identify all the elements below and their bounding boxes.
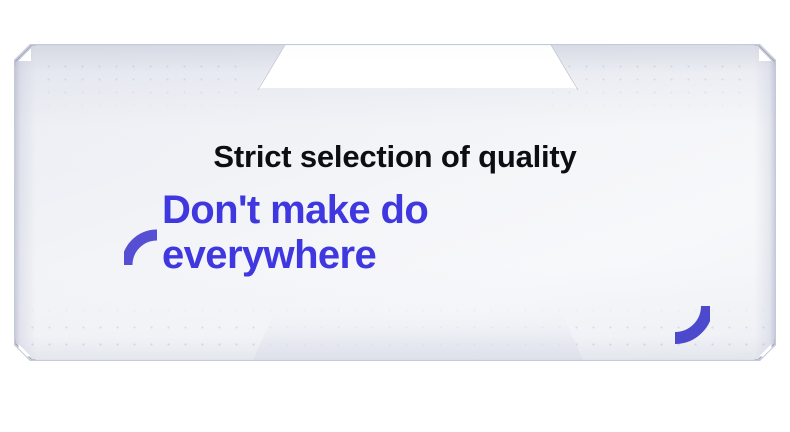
banner-headline: Strict selection of quality: [14, 140, 776, 174]
corner-notch-top-left: [14, 44, 36, 66]
arc-decoration-right-icon: [664, 302, 710, 348]
corner-notch-bottom-left: [14, 339, 36, 361]
dot-grid-top-right: [544, 60, 750, 116]
promo-banner-card: Strict selection of quality Don't make d…: [14, 44, 776, 361]
banner-copy: Strict selection of quality Don't make d…: [14, 140, 776, 278]
banner-subheadline-line-1: Don't make do: [162, 188, 682, 233]
bottom-notch-panel: [252, 313, 584, 361]
corner-notch-top-right: [754, 44, 776, 66]
banner-subheadline: Don't make do everywhere: [14, 188, 682, 278]
dot-grid-top-left: [40, 60, 246, 116]
banner-subheadline-line-2: everywhere: [162, 233, 682, 278]
banner-stage: Strict selection of quality Don't make d…: [0, 0, 790, 432]
top-notch-panel: [258, 44, 578, 88]
corner-notch-bottom-right: [754, 339, 776, 361]
